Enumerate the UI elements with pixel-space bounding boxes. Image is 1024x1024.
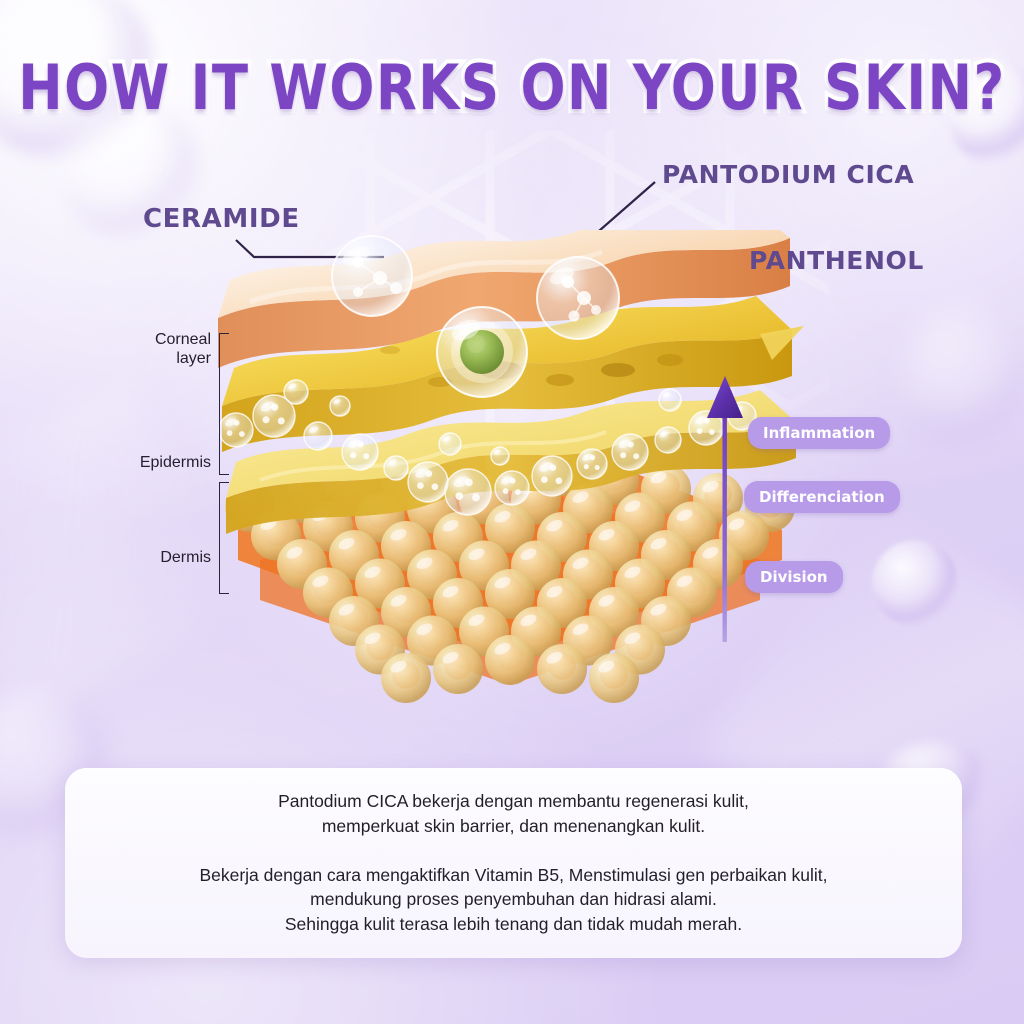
page-title-wrap: HOW IT WORKS ON YOUR SKIN? xyxy=(0,58,1024,119)
bracket-dermis xyxy=(219,482,229,594)
layer-label-dermis: Dermis xyxy=(96,548,211,567)
badge-differenciation[interactable]: Differenciation xyxy=(744,481,900,513)
layer-label-corneal: Corneal layer xyxy=(96,330,211,368)
callout-label-ceramide: CERAMIDE xyxy=(143,204,300,234)
layer-label-epidermis: Epidermis xyxy=(96,453,211,472)
badge-division[interactable]: Division xyxy=(745,561,843,593)
ceramide-bubble xyxy=(332,236,412,316)
description-paragraph-1: Pantodium CICA bekerja dengan membantu r… xyxy=(278,789,749,839)
panthenol-bubble xyxy=(537,257,619,339)
description-paragraph-2: Bekerja dengan cara mengaktifkan Vitamin… xyxy=(199,863,827,938)
description-card: Pantodium CICA bekerja dengan membantu r… xyxy=(65,768,962,958)
bokeh-droplet xyxy=(905,300,1024,460)
cica-capsule xyxy=(437,307,527,397)
bracket-epidermis xyxy=(219,333,229,475)
infographic-canvas: HOW IT WORKS ON YOUR SKIN? xyxy=(0,0,1024,1024)
badge-inflammation[interactable]: Inflammation xyxy=(748,417,890,449)
upward-arrow-icon xyxy=(705,374,745,644)
bokeh-droplet xyxy=(872,540,958,626)
page-title: HOW IT WORKS ON YOUR SKIN? xyxy=(18,53,1005,125)
callout-label-pantodium-cica: PANTODIUM CICA xyxy=(662,160,914,189)
callout-label-panthenol: PANTHENOL xyxy=(749,246,924,275)
